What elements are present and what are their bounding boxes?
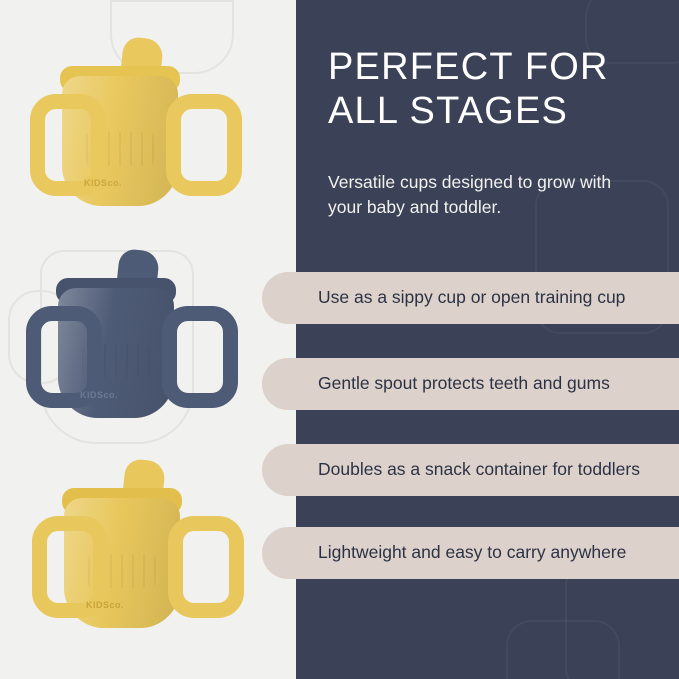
cup-handle-right xyxy=(166,94,242,196)
feature-item-4: Lightweight and easy to carry anywhere xyxy=(262,527,679,579)
product-image-panel: KIDSco. KIDSco. KIDSco. xyxy=(0,0,296,679)
cup-handle-right xyxy=(162,306,238,408)
headline-line-2: ALL STAGES xyxy=(328,90,658,134)
feature-text: Lightweight and easy to carry anywhere xyxy=(318,540,661,565)
feature-text: Doubles as a snack container for toddler… xyxy=(318,457,661,482)
feature-text: Use as a sippy cup or open training cup xyxy=(318,285,661,310)
feature-item-1: Use as a sippy cup or open training cup xyxy=(262,272,679,324)
cup-brand-label: KIDSco. xyxy=(86,600,124,610)
headline-line-1: PERFECT FOR xyxy=(328,46,658,90)
sippy-cup-yellow-bottom: KIDSco. xyxy=(28,458,238,658)
product-infographic: KIDSco. KIDSco. KIDSco. xyxy=(0,0,679,679)
feature-text: Gentle spout protects teeth and gums xyxy=(318,371,661,396)
cup-handle-right xyxy=(168,516,244,618)
subheadline: Versatile cups designed to grow with you… xyxy=(328,170,628,221)
cup-brand-label: KIDSco. xyxy=(80,390,118,400)
headline: PERFECT FOR ALL STAGES xyxy=(328,46,658,133)
cup-brand-label: KIDSco. xyxy=(84,178,122,188)
feature-item-3: Doubles as a snack container for toddler… xyxy=(262,444,679,496)
feature-item-2: Gentle spout protects teeth and gums xyxy=(262,358,679,410)
sippy-cup-navy: KIDSco. xyxy=(22,248,232,448)
watermark-cup-outline xyxy=(506,620,620,679)
sippy-cup-yellow-top: KIDSco. xyxy=(26,36,226,226)
